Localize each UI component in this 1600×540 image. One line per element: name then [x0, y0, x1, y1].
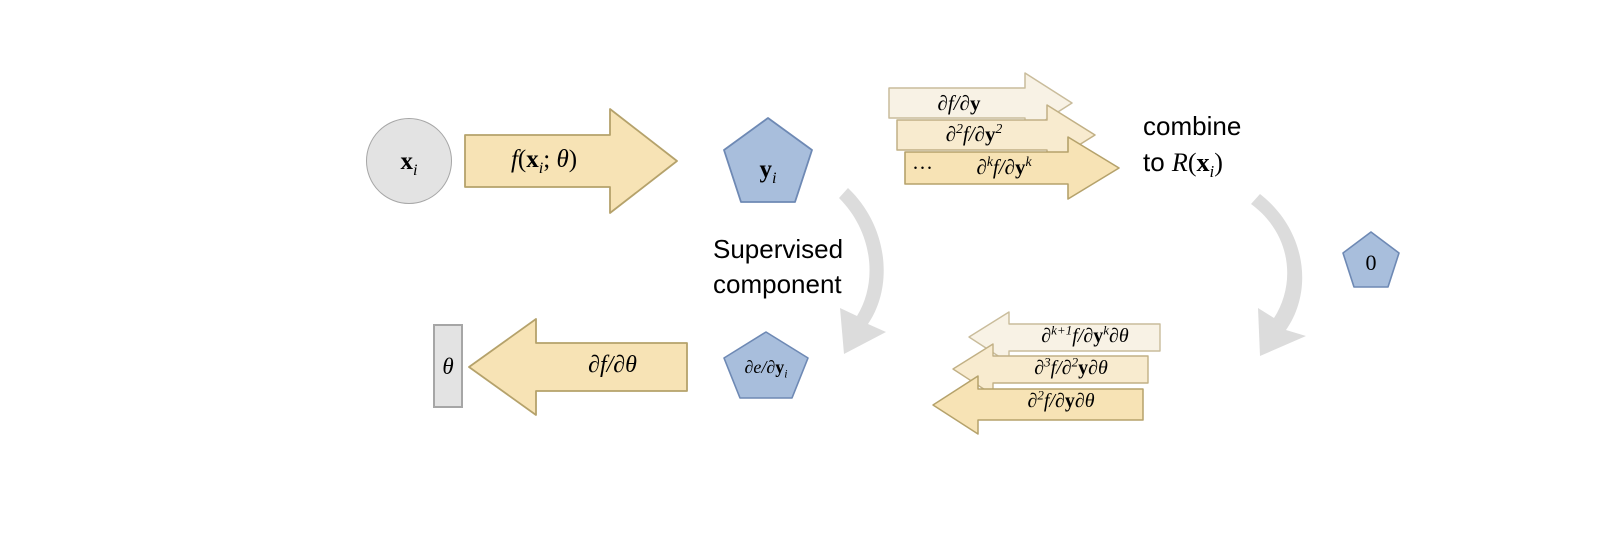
combine-label-line2: to R(xi)	[1143, 144, 1343, 180]
combine-label-to: to	[1143, 147, 1172, 177]
input-sample-circle: xi	[366, 118, 452, 204]
output-deriv-arrow-3: ··· ∂kf/∂yk	[904, 136, 1120, 200]
error-gradient-pentagon: ∂e/∂yi	[722, 330, 810, 400]
theta-deriv-arrow-3-label: ∂2f/∂y∂θ	[982, 391, 1140, 411]
parameters-label: θ	[442, 355, 453, 378]
theta-deriv-arrow-3: ∂2f/∂y∂θ	[932, 374, 1144, 436]
model-output-pentagon: yi	[722, 116, 814, 204]
forward-arrow: f(xi; θ)	[464, 107, 678, 215]
diagram-canvas: xi f(xi; θ) yi ∂f/∂y ∂2f/	[0, 0, 1600, 540]
combine-label-line1: combine	[1143, 108, 1343, 144]
theta-gradient-arrow: ∂f/∂θ	[468, 317, 688, 417]
model-output-label: yi	[722, 157, 814, 182]
zero-curved-arrow	[1248, 190, 1338, 360]
output-deriv-arrow-3-label: ∂kf/∂yk	[940, 157, 1068, 178]
input-sample-label: xi	[400, 149, 417, 174]
zero-target-label: 0	[1341, 252, 1401, 274]
supervised-curved-arrow	[830, 182, 910, 362]
zero-target-pentagon: 0	[1341, 230, 1401, 290]
forward-arrow-label: f(xi; θ)	[474, 147, 614, 172]
combine-label: combine to R(xi)	[1143, 108, 1343, 180]
combine-label-R: R(xi)	[1172, 148, 1223, 177]
parameters-box: θ	[433, 324, 463, 408]
theta-gradient-arrow-label: ∂f/∂θ	[540, 353, 685, 377]
error-gradient-label: ∂e/∂yi	[722, 358, 810, 376]
output-deriv-ellipsis: ···	[912, 156, 933, 181]
